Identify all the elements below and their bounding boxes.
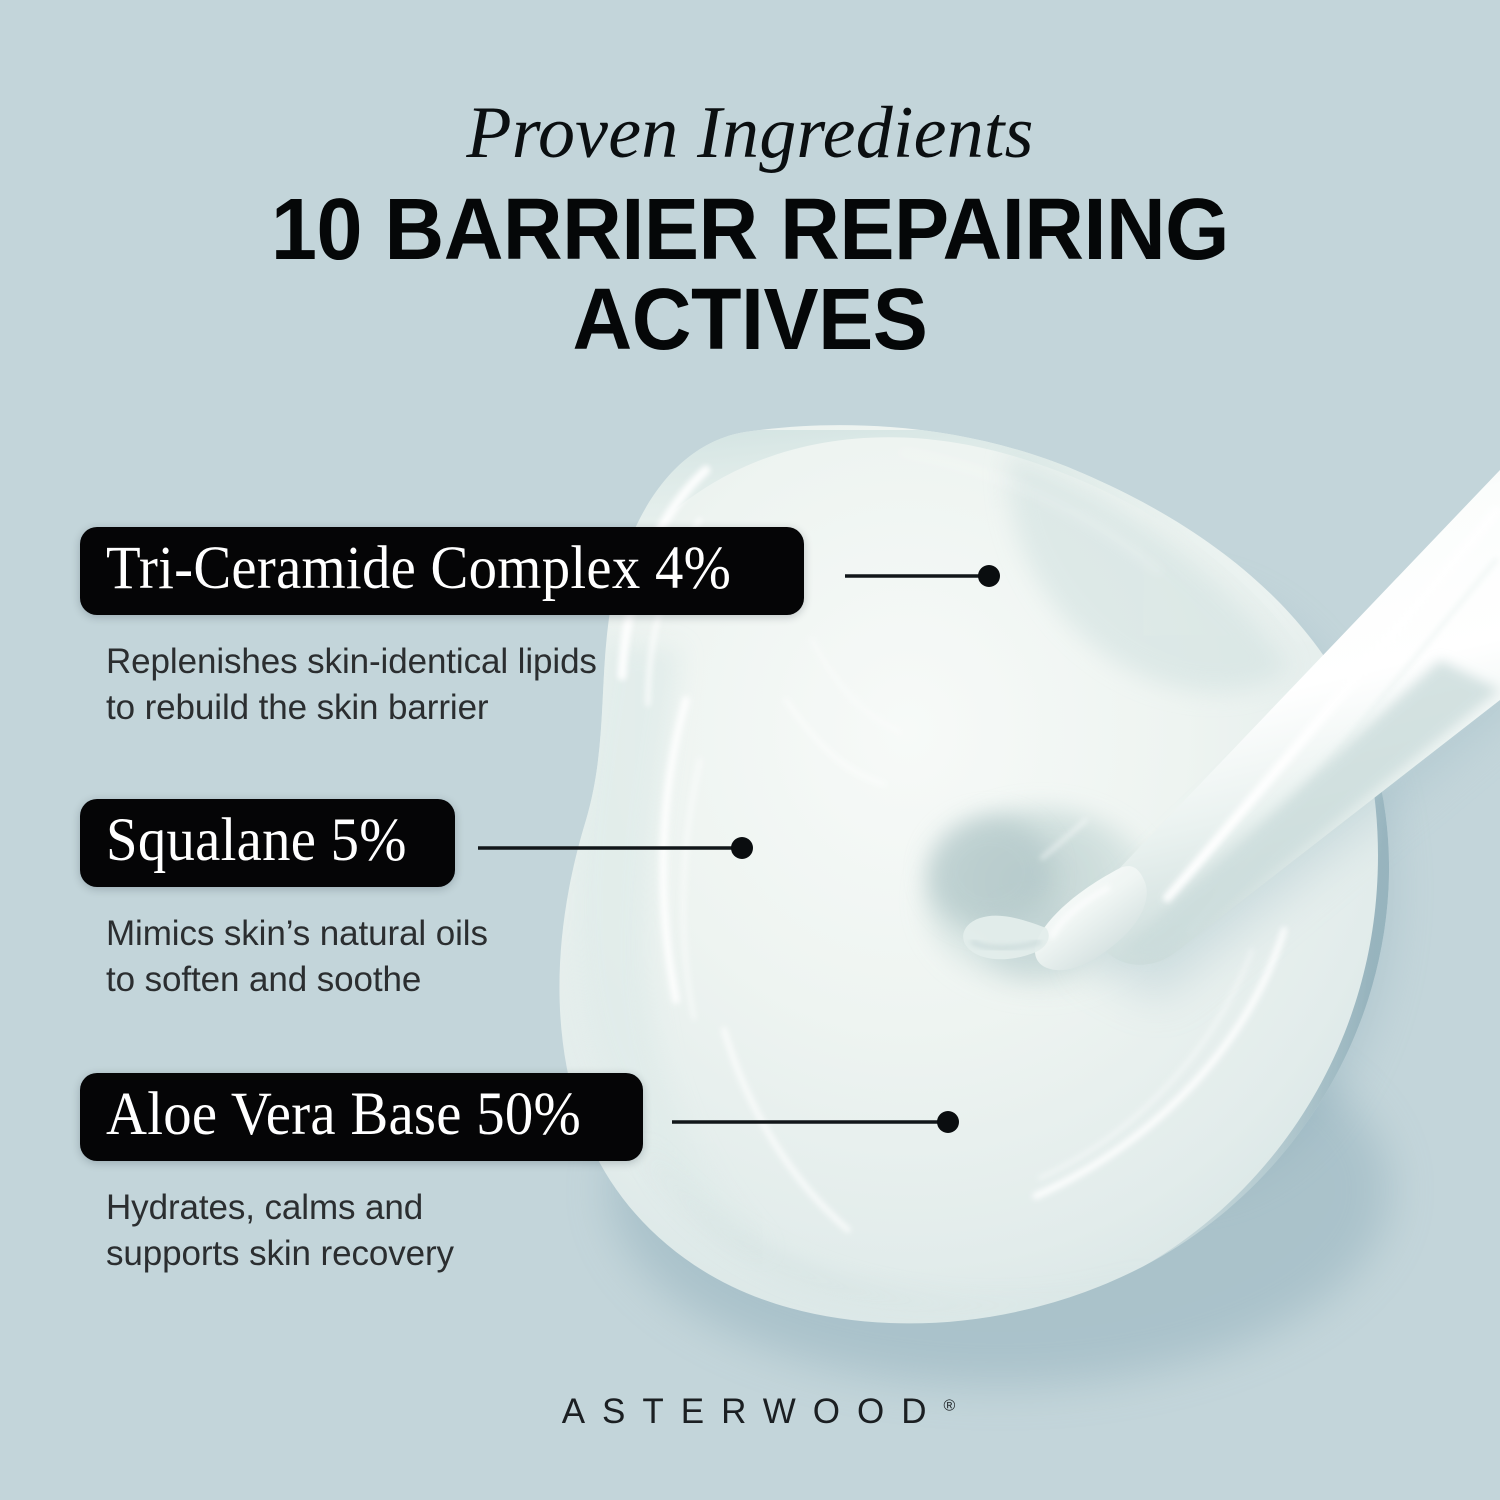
- headline-line-2: ACTIVES: [38, 275, 1463, 365]
- ingredient-description-2: Mimics skin’s natural oils to soften and…: [106, 911, 488, 1003]
- ingredient-pill-3[interactable]: Aloe Vera Base 50%: [80, 1073, 643, 1161]
- ingredient-callout-1: Tri-Ceramide Complex 4% Replenishes skin…: [80, 527, 804, 732]
- eyebrow-title: Proven Ingredients: [0, 96, 1500, 171]
- infographic-canvas: Proven Ingredients 10 BARRIER REPAIRING …: [0, 0, 1500, 1500]
- page-title: 10 BARRIER REPAIRING ACTIVES: [38, 185, 1463, 364]
- leader-dot-3: [937, 1111, 959, 1133]
- ingredient-callout-2: Squalane 5% Mimics skin’s natural oils t…: [80, 799, 488, 1004]
- ingredient-pill-label-3: Aloe Vera Base 50%: [106, 1084, 581, 1146]
- ingredient-description-1: Replenishes skin-identical lipids to reb…: [106, 639, 804, 731]
- ingredient-pill-label-1: Tri-Ceramide Complex 4%: [106, 538, 731, 600]
- brand-name: ASTERWOOD: [562, 1392, 944, 1431]
- headline-line-1: 10 BARRIER REPAIRING: [38, 185, 1463, 275]
- ingredient-pill-2[interactable]: Squalane 5%: [80, 799, 455, 887]
- ingredient-callout-3: Aloe Vera Base 50% Hydrates, calms and s…: [80, 1073, 643, 1278]
- leader-dot-2: [731, 837, 753, 859]
- leader-dot-1: [978, 565, 1000, 587]
- ingredient-description-3: Hydrates, calms and supports skin recove…: [106, 1185, 643, 1277]
- ingredient-pill-label-2: Squalane 5%: [106, 810, 407, 872]
- brand-logo: ASTERWOOD®: [0, 1392, 1500, 1432]
- ingredient-pill-1[interactable]: Tri-Ceramide Complex 4%: [80, 527, 804, 615]
- header-block: Proven Ingredients 10 BARRIER REPAIRING …: [0, 96, 1500, 365]
- registered-trademark-icon: ®: [944, 1397, 956, 1414]
